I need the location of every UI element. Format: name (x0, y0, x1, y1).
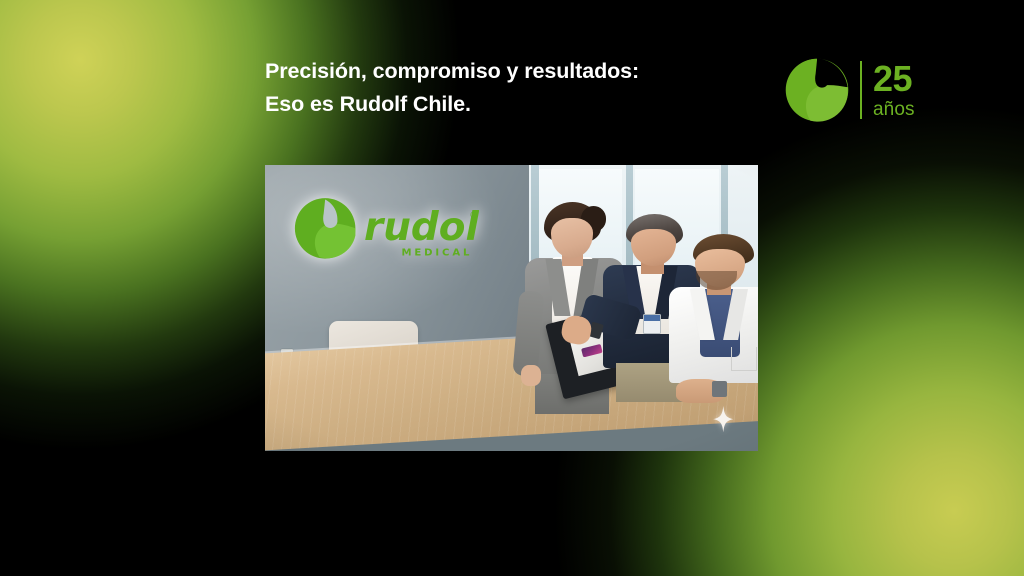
page-title: Precisión, compromiso y resultados: Eso … (265, 55, 785, 121)
wristwatch (712, 381, 727, 396)
hero-photo: rudolf MEDICAL ® (265, 165, 758, 451)
logo-divider (860, 61, 862, 119)
rudolf-medical-wall-logo: rudolf MEDICAL ® (292, 184, 479, 273)
anniversary-number: 25 (873, 61, 915, 97)
person-man-lab-coat (669, 234, 758, 406)
coat-pocket (731, 347, 757, 371)
headline-line-2: Eso es Rudolf Chile. (265, 88, 785, 121)
svg-text:®: ® (469, 211, 478, 221)
anniversary-unit: años (873, 100, 915, 119)
anniversary-logo: 25 años (783, 56, 915, 124)
id-badge (643, 314, 661, 335)
rudolf-leaf-mark-icon (783, 56, 851, 124)
face (551, 218, 593, 258)
ai-sparkle-icon (710, 406, 737, 432)
badge-header-strip (644, 315, 660, 321)
headline-line-1: Precisión, compromiso y resultados: (265, 55, 785, 88)
slide-canvas: Precisión, compromiso y resultados: Eso … (0, 0, 1024, 576)
hand-left (521, 365, 541, 386)
svg-text:MEDICAL: MEDICAL (402, 247, 473, 258)
anniversary-text: 25 años (871, 61, 915, 119)
svg-text:rudolf: rudolf (364, 204, 479, 249)
